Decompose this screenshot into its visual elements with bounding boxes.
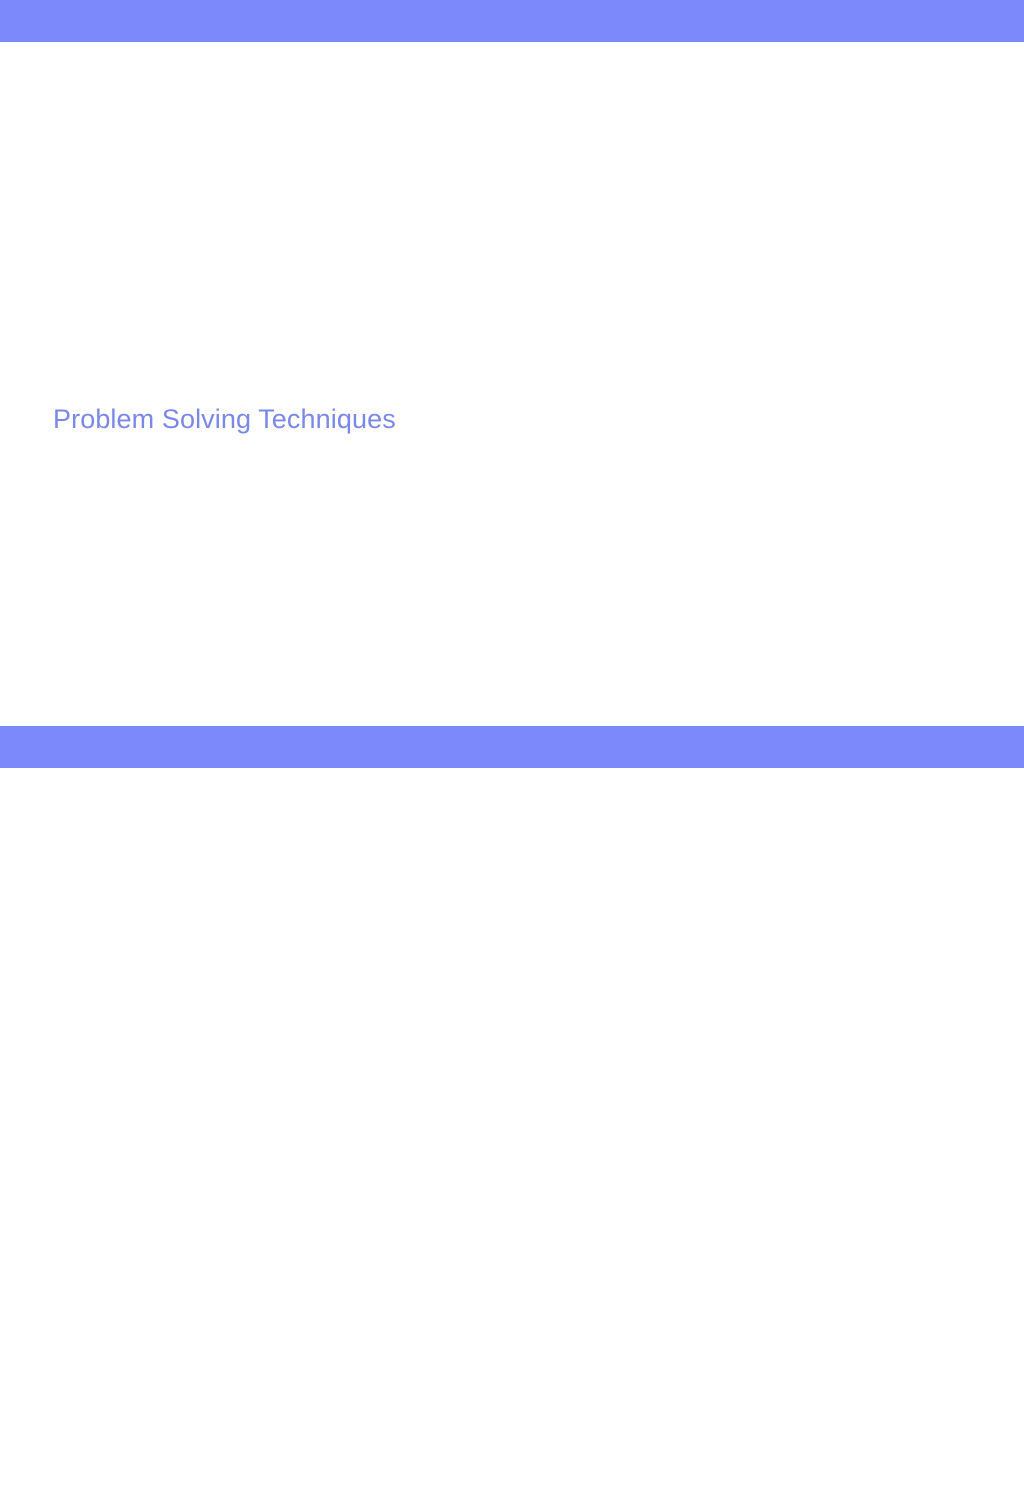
footer-band: 1 © 2011 Epiphron Consulting <box>0 726 1024 768</box>
copyright-notice: © 2011 Epiphron Consulting <box>858 1471 1014 1485</box>
top-accent-band <box>0 0 1024 42</box>
slide-title: Problem Solving Techniques <box>53 403 396 435</box>
slide-content-area: Problem Solving Techniques <box>0 42 1024 726</box>
presentation-slide: Problem Solving Techniques 1 © 2011 Epip… <box>0 0 1024 768</box>
page-number: 1 <box>13 1471 20 1485</box>
